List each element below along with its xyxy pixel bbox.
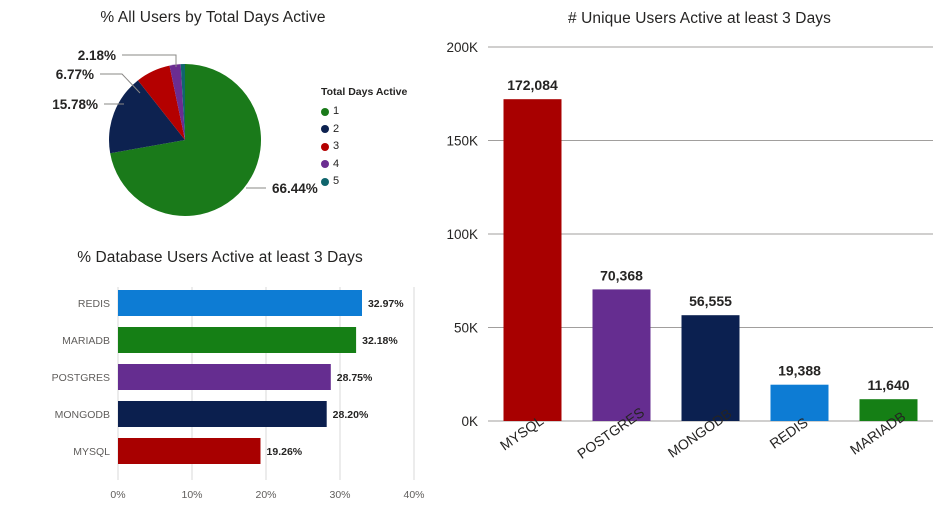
hbar-category-label-MARIADB: MARIADB [62, 335, 110, 347]
pie-legend-swatch-5 [321, 178, 329, 186]
hbar-category-label-MYSQL: MYSQL [73, 446, 110, 458]
vbar-ytick-0K: 0K [461, 414, 478, 429]
pie-leader-line-4 [122, 55, 176, 67]
pie-legend-label-3: 3 [333, 141, 339, 152]
hbar-bar-MYSQL [118, 438, 261, 464]
pie-legend-label-5: 5 [333, 176, 339, 187]
vbar-bar-MONGODB [682, 315, 740, 421]
pie-legend-label-2: 2 [333, 124, 339, 135]
horizontal-bar-chart-svg: REDISMARIADBPOSTGRESMONGODBMYSQL 32.97%3… [0, 240, 440, 521]
pie-chart-panel: % All Users by Total Days Active 66.44%1… [0, 0, 440, 236]
hbar-value-label-REDIS: 32.97% [368, 298, 404, 310]
pie-legend-item-2[interactable]: 2 [321, 121, 425, 139]
pie-data-label-2: 15.78% [52, 97, 98, 112]
pie-data-label-3: 6.77% [56, 67, 94, 82]
hbar-xtick-40%: 40% [403, 489, 424, 501]
hbar-bar-MARIADB [118, 327, 356, 353]
hbar-bar-MONGODB [118, 401, 327, 427]
hbar-xtick-30%: 30% [329, 489, 350, 501]
pie-legend-swatch-1 [321, 108, 329, 116]
horizontal-bar-chart-panel: % Database Users Active at least 3 Days … [0, 240, 440, 521]
hbar-value-label-MYSQL: 19.26% [267, 446, 303, 458]
vbar-ytick-100K: 100K [446, 227, 478, 242]
pie-legend: Total Days Active 12345 [321, 86, 425, 191]
hbar-value-label-MONGODB: 28.20% [333, 409, 369, 421]
hbar-category-label-POSTGRES: POSTGRES [52, 372, 110, 384]
pie-legend-item-3[interactable]: 3 [321, 138, 425, 156]
vbar-ytick-200K: 200K [446, 40, 478, 55]
hbar-category-label-REDIS: REDIS [78, 298, 110, 310]
vbar-value-label-MARIADB: 11,640 [867, 377, 909, 393]
hbar-xtick-10%: 10% [181, 489, 202, 501]
vertical-bar-chart-panel: # Unique Users Active at least 3 Days 0K… [436, 0, 943, 521]
vbar-bar-POSTGRES [593, 289, 651, 421]
hbar-value-label-POSTGRES: 28.75% [337, 372, 373, 384]
hbar-bar-POSTGRES [118, 364, 331, 390]
hbar-category-label-MONGODB: MONGODB [55, 409, 110, 421]
pie-data-label-4: 2.18% [78, 48, 116, 63]
pie-legend-label-4: 4 [333, 159, 339, 170]
vbar-ytick-150K: 150K [446, 134, 478, 149]
dashboard: % All Users by Total Days Active 66.44%1… [0, 0, 943, 521]
vertical-bar-chart-svg: 0K50K100K150K200K 172,08470,36856,55519,… [436, 0, 943, 521]
pie-legend-items: 12345 [321, 103, 425, 191]
pie-legend-item-4[interactable]: 4 [321, 156, 425, 174]
hbar-value-label-MARIADB: 32.18% [362, 335, 398, 347]
pie-legend-swatch-3 [321, 143, 329, 151]
vbar-value-label-REDIS: 19,388 [778, 363, 821, 379]
vbar-value-label-MONGODB: 56,555 [689, 293, 732, 309]
horizontal-bar-series [118, 290, 362, 464]
pie-legend-label-1: 1 [333, 106, 339, 117]
hbar-bar-REDIS [118, 290, 362, 316]
pie-slices-group [109, 64, 261, 216]
vbar-value-label-POSTGRES: 70,368 [600, 267, 643, 283]
vbar-ytick-50K: 50K [454, 321, 478, 336]
vbar-value-label-MYSQL: 172,084 [507, 77, 558, 93]
horizontal-bar-x-axis-ticks: 0%10%20%30%40% [110, 489, 424, 501]
vertical-bar-y-axis-ticks: 0K50K100K150K200K [446, 40, 478, 429]
pie-legend-title: Total Days Active [321, 86, 425, 98]
hbar-xtick-0%: 0% [110, 489, 125, 501]
pie-legend-swatch-4 [321, 160, 329, 168]
pie-legend-item-1[interactable]: 1 [321, 103, 425, 121]
horizontal-bar-category-labels: REDISMARIADBPOSTGRESMONGODBMYSQL [52, 298, 111, 458]
hbar-xtick-20%: 20% [255, 489, 276, 501]
pie-legend-item-5[interactable]: 5 [321, 173, 425, 191]
vertical-bar-series [504, 99, 918, 421]
vbar-bar-MYSQL [504, 99, 562, 421]
pie-legend-swatch-2 [321, 125, 329, 133]
pie-data-label-1: 66.44% [272, 181, 318, 196]
